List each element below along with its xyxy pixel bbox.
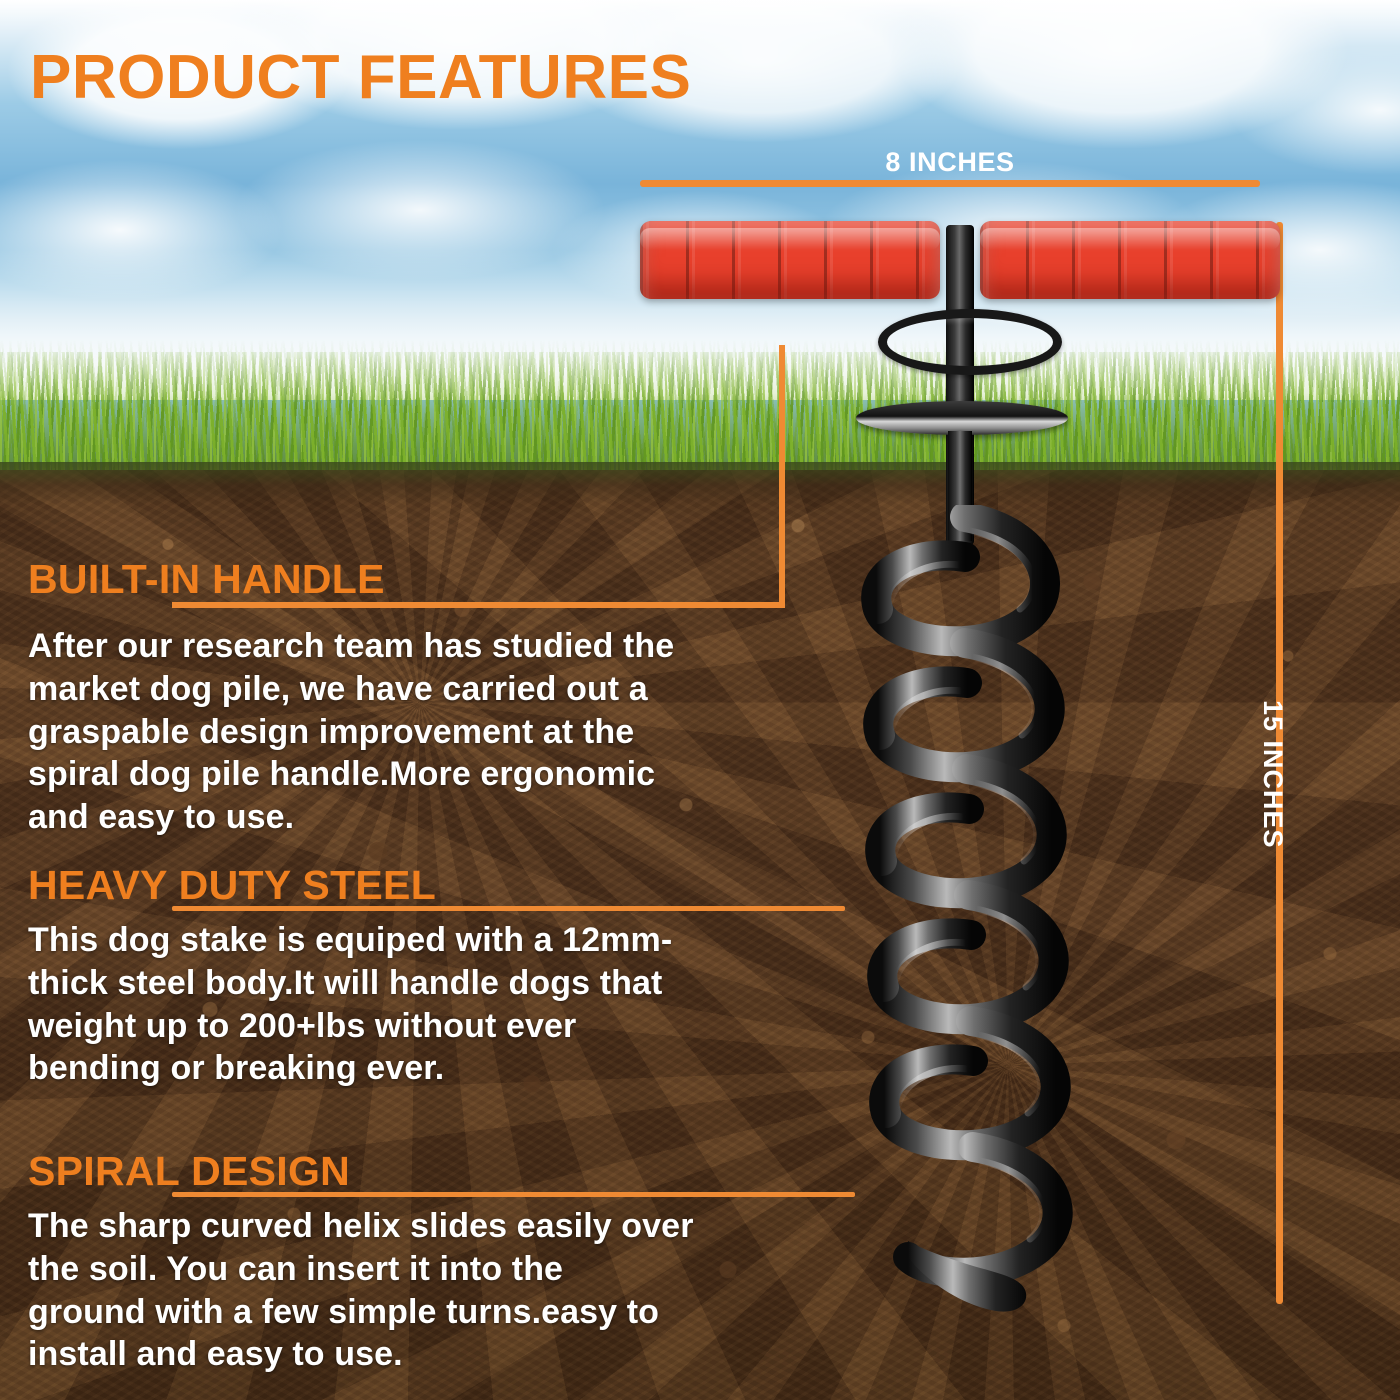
feature-heavy-duty-steel: HEAVY DUTY STEEL This dog stake is equip… xyxy=(28,862,672,1090)
feature-heading-underline xyxy=(172,1192,855,1197)
width-measurement-label: 8 INCHES xyxy=(640,147,1260,178)
stop-disc xyxy=(856,401,1068,435)
tie-out-ring xyxy=(878,309,1062,375)
feature-body: This dog stake is equiped with a 12mm- t… xyxy=(28,919,672,1090)
feature-built-in-handle: BUILT-IN HANDLE After our research team … xyxy=(28,556,674,839)
feature-heading: SPIRAL DESIGN xyxy=(28,1148,694,1195)
feature-heading: HEAVY DUTY STEEL xyxy=(28,862,672,909)
feature-spiral-design: SPIRAL DESIGN The sharp curved helix sli… xyxy=(28,1148,694,1376)
infographic-canvas: PRODUCT FEATURES 8 INCHES 15 INCHES xyxy=(0,0,1400,1400)
product-illustration xyxy=(620,205,1300,1345)
page-title: PRODUCT FEATURES xyxy=(30,42,691,113)
feature-heading: BUILT-IN HANDLE xyxy=(28,556,674,603)
feature-body: The sharp curved helix slides easily ove… xyxy=(28,1205,694,1376)
handle-grip-left xyxy=(640,221,940,299)
spiral-helix-auger xyxy=(820,505,1110,1345)
width-measurement-line xyxy=(640,180,1260,187)
feature-body: After our research team has studied the … xyxy=(28,625,674,839)
handle-grip-right xyxy=(980,221,1280,299)
feature-heading-underline xyxy=(172,906,845,911)
